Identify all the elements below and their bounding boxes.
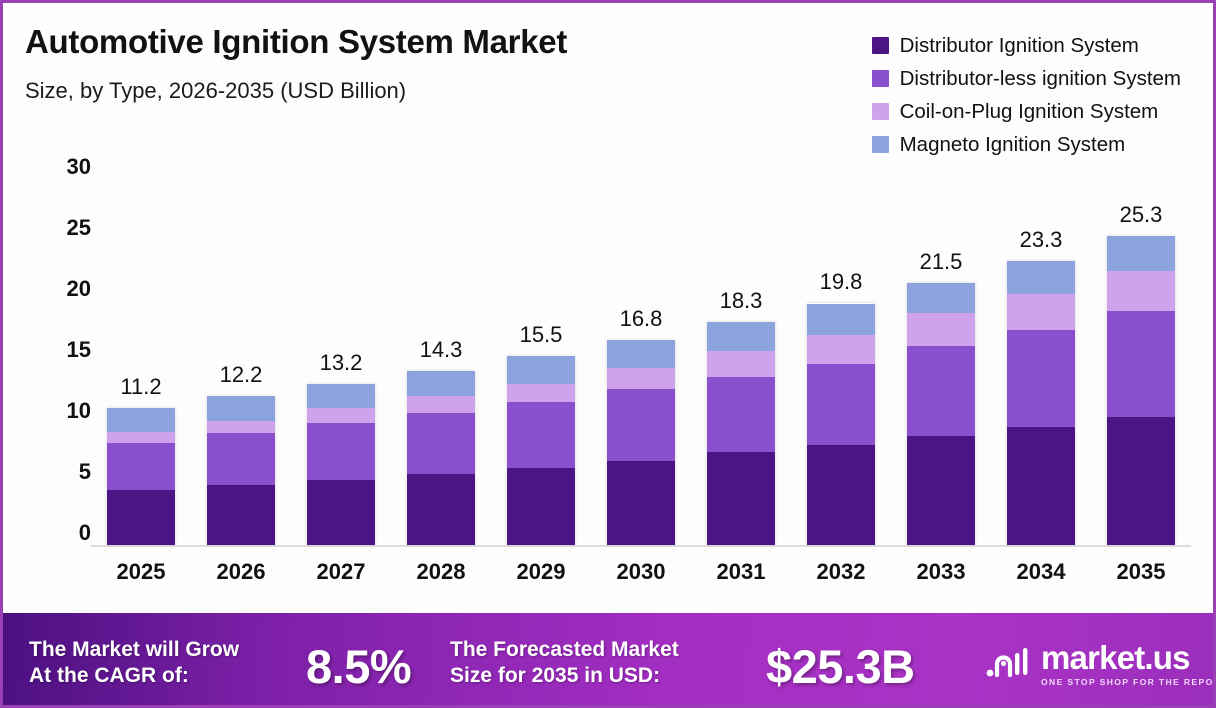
y-axis-tick: 25 bbox=[29, 215, 91, 241]
bar-segment[interactable] bbox=[807, 445, 875, 545]
legend-swatch-icon bbox=[872, 70, 889, 87]
bar-segment[interactable] bbox=[507, 402, 575, 468]
bar-segment[interactable] bbox=[207, 433, 275, 485]
bar-segment[interactable] bbox=[1107, 271, 1175, 311]
legend-label: Distributor-less ignition System bbox=[900, 67, 1181, 91]
bar-segment[interactable] bbox=[607, 368, 675, 389]
bar-segment[interactable] bbox=[1007, 261, 1075, 294]
bar-segment[interactable] bbox=[907, 313, 975, 346]
y-axis-tick-labels: 051015202530 bbox=[29, 167, 91, 547]
cagr-caption-line2: At the CAGR of: bbox=[29, 663, 239, 689]
bar-segment[interactable] bbox=[307, 480, 375, 545]
bar-segment[interactable] bbox=[507, 384, 575, 402]
bar-slot: 15.5 bbox=[491, 179, 591, 545]
bar-segment[interactable] bbox=[307, 384, 375, 408]
chart-header: Automotive Ignition System Market Size, … bbox=[3, 3, 1216, 163]
legend-swatch-icon bbox=[872, 103, 889, 120]
stacked-bar[interactable] bbox=[1107, 236, 1175, 545]
bar-value-label: 16.8 bbox=[620, 306, 663, 332]
x-axis-tick: 2025 bbox=[91, 559, 191, 599]
bar-segment[interactable] bbox=[307, 423, 375, 480]
page-title: Automotive Ignition System Market bbox=[25, 23, 567, 61]
stacked-bar[interactable] bbox=[1007, 261, 1075, 545]
bar-slot: 19.8 bbox=[791, 179, 891, 545]
y-axis-tick: 30 bbox=[29, 154, 91, 180]
bar-slot: 23.3 bbox=[991, 179, 1091, 545]
chart-subtitle: Size, by Type, 2026-2035 (USD Billion) bbox=[25, 78, 406, 104]
bar-segment[interactable] bbox=[907, 346, 975, 436]
plot-area: 11.212.213.214.315.516.818.319.821.523.3… bbox=[91, 179, 1191, 547]
x-axis-tick: 2028 bbox=[391, 559, 491, 599]
cagr-caption-line1: The Market will Grow bbox=[29, 637, 239, 663]
bar-slot: 13.2 bbox=[291, 179, 391, 545]
bar-segment[interactable] bbox=[807, 304, 875, 336]
bar-segment[interactable] bbox=[1107, 311, 1175, 417]
bar-slot: 11.2 bbox=[91, 179, 191, 545]
bar-segment[interactable] bbox=[107, 408, 175, 431]
cagr-caption: The Market will Grow At the CAGR of: bbox=[29, 637, 239, 688]
forecast-caption: The Forecasted Market Size for 2035 in U… bbox=[450, 637, 679, 688]
x-axis-tick: 2033 bbox=[891, 559, 991, 599]
bar-segment[interactable] bbox=[107, 443, 175, 491]
bar-segment[interactable] bbox=[707, 351, 775, 377]
bar-segment[interactable] bbox=[107, 490, 175, 545]
axis-baseline bbox=[91, 545, 1191, 547]
bar-value-label: 12.2 bbox=[220, 362, 263, 388]
bar-segment[interactable] bbox=[1107, 236, 1175, 270]
bar-segment[interactable] bbox=[907, 436, 975, 545]
y-axis-tick: 15 bbox=[29, 337, 91, 363]
x-axis-tick: 2030 bbox=[591, 559, 691, 599]
bar-segment[interactable] bbox=[207, 421, 275, 433]
bar-slot: 14.3 bbox=[391, 179, 491, 545]
stacked-bar[interactable] bbox=[307, 384, 375, 545]
logo-wordmark: market.us ONE STOP SHOP FOR THE REPORTS bbox=[1041, 641, 1216, 687]
bar-segment[interactable] bbox=[607, 389, 675, 461]
bar-slot: 21.5 bbox=[891, 179, 991, 545]
x-axis-tick: 2034 bbox=[991, 559, 1091, 599]
bar-value-label: 21.5 bbox=[920, 249, 963, 275]
x-axis-tick: 2032 bbox=[791, 559, 891, 599]
bar-segment[interactable] bbox=[407, 396, 475, 413]
y-axis-tick: 0 bbox=[29, 520, 91, 546]
y-axis-tick: 20 bbox=[29, 276, 91, 302]
bar-value-label: 14.3 bbox=[420, 337, 463, 363]
bar-segment[interactable] bbox=[207, 485, 275, 545]
bar-segment[interactable] bbox=[807, 335, 875, 364]
bar-slot: 18.3 bbox=[691, 179, 791, 545]
legend-item[interactable]: Magneto Ignition System bbox=[872, 128, 1181, 161]
infographic-card: Automotive Ignition System Market Size, … bbox=[0, 0, 1216, 708]
x-axis-tick: 2027 bbox=[291, 559, 391, 599]
stacked-bar[interactable] bbox=[907, 283, 975, 545]
x-axis-tick: 2026 bbox=[191, 559, 291, 599]
legend-label: Magneto Ignition System bbox=[900, 133, 1126, 157]
market-us-logo-icon bbox=[986, 645, 1032, 684]
legend-label: Coil-on-Plug Ignition System bbox=[900, 100, 1159, 124]
cagr-value: 8.5% bbox=[306, 639, 411, 694]
bar-segment[interactable] bbox=[607, 340, 675, 368]
y-axis-tick: 10 bbox=[29, 398, 91, 424]
x-axis-tick: 2031 bbox=[691, 559, 791, 599]
bar-value-label: 13.2 bbox=[320, 350, 363, 376]
bar-segment[interactable] bbox=[407, 413, 475, 474]
x-axis-tick-labels: 2025202620272028202920302031203220332034… bbox=[91, 559, 1191, 599]
stacked-bar[interactable] bbox=[807, 303, 875, 545]
bar-segment[interactable] bbox=[507, 356, 575, 384]
y-axis-tick: 5 bbox=[29, 459, 91, 485]
forecast-value: $25.3B bbox=[766, 639, 915, 694]
bar-segment[interactable] bbox=[1007, 330, 1075, 426]
bar-segment[interactable] bbox=[407, 474, 475, 545]
stacked-bar[interactable] bbox=[407, 371, 475, 545]
legend-item[interactable]: Distributor-less ignition System bbox=[872, 62, 1181, 95]
bar-segment[interactable] bbox=[207, 396, 275, 420]
bar-segment[interactable] bbox=[507, 468, 575, 545]
bar-segment[interactable] bbox=[707, 322, 775, 351]
bar-slot: 12.2 bbox=[191, 179, 291, 545]
bar-segment[interactable] bbox=[707, 452, 775, 545]
stacked-bar[interactable] bbox=[607, 340, 675, 545]
bar-segment[interactable] bbox=[407, 371, 475, 397]
legend-swatch-icon bbox=[872, 37, 889, 54]
bar-segment[interactable] bbox=[107, 432, 175, 443]
stacked-bar[interactable] bbox=[207, 396, 275, 545]
x-axis-tick: 2035 bbox=[1091, 559, 1191, 599]
bar-segment[interactable] bbox=[1007, 427, 1075, 545]
bar-slot: 16.8 bbox=[591, 179, 691, 545]
legend-item[interactable]: Coil-on-Plug Ignition System bbox=[872, 95, 1181, 128]
logo-tagline: ONE STOP SHOP FOR THE REPORTS bbox=[1041, 677, 1216, 687]
bar-value-label: 25.3 bbox=[1120, 202, 1163, 228]
bar-segment[interactable] bbox=[1007, 294, 1075, 331]
bar-value-label: 19.8 bbox=[820, 269, 863, 295]
chart-legend: Distributor Ignition SystemDistributor-l… bbox=[872, 29, 1181, 161]
bar-segment[interactable] bbox=[907, 283, 975, 313]
legend-swatch-icon bbox=[872, 136, 889, 153]
summary-footer: The Market will Grow At the CAGR of: 8.5… bbox=[3, 613, 1216, 705]
bar-segment[interactable] bbox=[707, 377, 775, 453]
brand-logo[interactable]: market.us ONE STOP SHOP FOR THE REPORTS bbox=[986, 641, 1216, 687]
bar-slot: 25.3 bbox=[1091, 179, 1191, 545]
bar-segment[interactable] bbox=[807, 364, 875, 445]
bar-value-label: 15.5 bbox=[520, 322, 563, 348]
stacked-bar[interactable] bbox=[507, 356, 575, 545]
forecast-caption-line2: Size for 2035 in USD: bbox=[450, 663, 679, 689]
legend-item[interactable]: Distributor Ignition System bbox=[872, 29, 1181, 62]
bar-value-label: 23.3 bbox=[1020, 227, 1063, 253]
bar-segment[interactable] bbox=[607, 461, 675, 545]
bar-value-label: 18.3 bbox=[720, 288, 763, 314]
stacked-bar[interactable] bbox=[107, 408, 175, 545]
stacked-bar[interactable] bbox=[707, 322, 775, 545]
bar-segment[interactable] bbox=[307, 408, 375, 423]
legend-label: Distributor Ignition System bbox=[900, 34, 1139, 58]
bar-group: 11.212.213.214.315.516.818.319.821.523.3… bbox=[91, 179, 1191, 545]
x-axis-tick: 2029 bbox=[491, 559, 591, 599]
forecast-caption-line1: The Forecasted Market bbox=[450, 637, 679, 663]
bar-segment[interactable] bbox=[1107, 417, 1175, 545]
logo-name: market.us bbox=[1041, 641, 1216, 674]
bar-value-label: 11.2 bbox=[120, 374, 161, 400]
